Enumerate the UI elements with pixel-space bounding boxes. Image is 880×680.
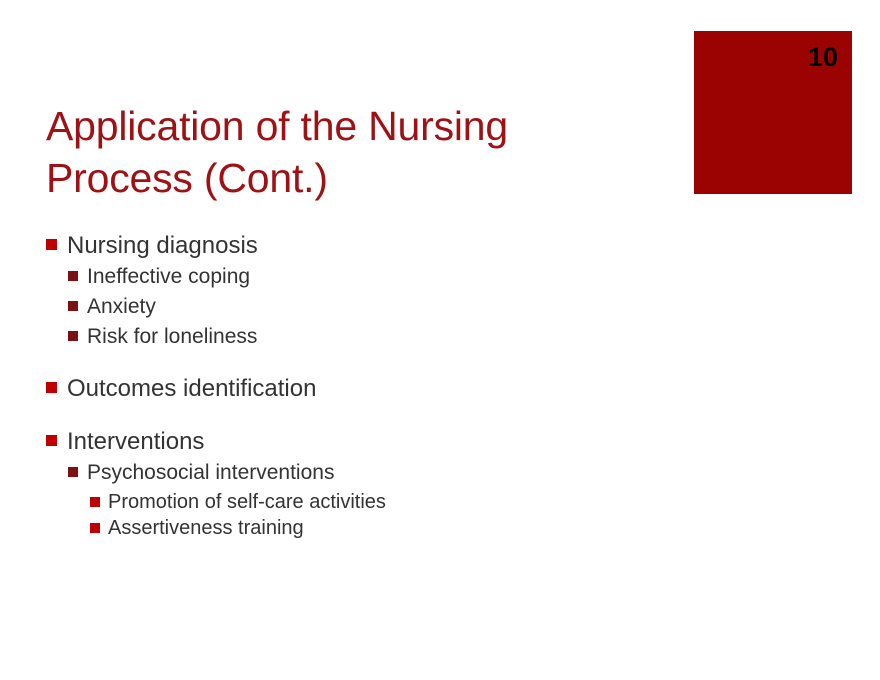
- square-bullet-icon: [46, 435, 57, 446]
- bullet-item-level-3: Promotion of self-care activities: [90, 489, 826, 515]
- bullet-item-label: Assertiveness training: [108, 515, 304, 541]
- bullet-item-level-1: Outcomes identification: [46, 373, 826, 404]
- square-bullet-icon: [46, 382, 57, 393]
- bullet-item-label: Psychosocial interventions: [87, 459, 334, 487]
- bullet-item-level-3: Assertiveness training: [90, 515, 826, 541]
- square-bullet-icon: [68, 467, 78, 477]
- page-number: 10: [808, 44, 838, 71]
- bullet-item-level-2: Ineffective coping: [68, 263, 826, 291]
- page-number-block: 10: [694, 31, 852, 194]
- square-bullet-icon: [68, 271, 78, 281]
- page-title-line-2: Process (Cont.): [46, 152, 646, 204]
- bullet-item-level-2: Psychosocial interventions: [68, 459, 826, 487]
- bullet-item-level-1: Nursing diagnosis: [46, 230, 826, 261]
- bullet-item-level-2: Risk for loneliness: [68, 323, 826, 351]
- bullet-item-label: Outcomes identification: [67, 373, 316, 404]
- square-bullet-icon: [68, 301, 78, 311]
- bullet-item-label: Interventions: [67, 426, 204, 457]
- bullet-item-level-2: Anxiety: [68, 293, 826, 321]
- bullet-item-label: Nursing diagnosis: [67, 230, 258, 261]
- bullet-item-label: Ineffective coping: [87, 263, 250, 291]
- page-title: Application of the Nursing Process (Cont…: [46, 100, 646, 204]
- bullet-item-label: Risk for loneliness: [87, 323, 257, 351]
- square-bullet-icon: [68, 331, 78, 341]
- square-bullet-icon: [90, 523, 100, 533]
- square-bullet-icon: [90, 497, 100, 507]
- slide-canvas: 10 Application of the Nursing Process (C…: [0, 0, 880, 680]
- bullet-item-level-1: Interventions: [46, 426, 826, 457]
- bullet-item-label: Promotion of self-care activities: [108, 489, 386, 515]
- square-bullet-icon: [46, 239, 57, 250]
- bullet-item-label: Anxiety: [87, 293, 156, 321]
- page-title-line-1: Application of the Nursing: [46, 100, 646, 152]
- bullet-list: Nursing diagnosisIneffective copingAnxie…: [46, 230, 826, 541]
